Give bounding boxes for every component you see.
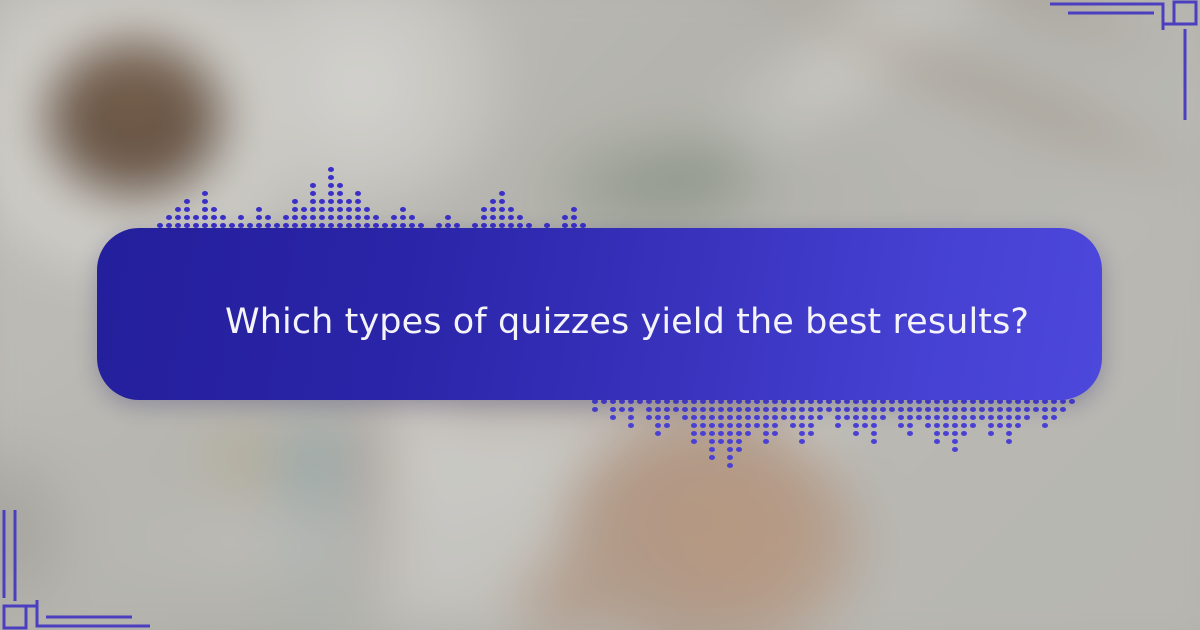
waveform-dot [772, 407, 778, 412]
waveform-dot [1015, 415, 1021, 420]
waveform-dot [346, 215, 352, 220]
waveform-dot [871, 423, 877, 428]
waveform-dot [727, 439, 733, 444]
waveform-dot [736, 431, 742, 436]
waveform-dot [808, 431, 814, 436]
waveform-dot [562, 215, 568, 220]
waveform-dot [988, 415, 994, 420]
waveform-column [835, 396, 841, 428]
waveform-dot [835, 407, 841, 412]
waveform-dot [736, 447, 742, 452]
waveform-dot [961, 423, 967, 428]
waveform-column [772, 396, 778, 436]
waveform-dot [772, 423, 778, 428]
waveform-dot [499, 215, 505, 220]
waveform-dot [835, 415, 841, 420]
waveform-dot [610, 415, 616, 420]
waveform-dot [328, 183, 334, 188]
waveform-dot [799, 407, 805, 412]
waveform-dot [781, 407, 787, 412]
waveform-dot [817, 415, 823, 420]
waveform-dot [1006, 431, 1012, 436]
waveform-dot [292, 207, 298, 212]
waveform-dot [193, 215, 199, 220]
waveform-dot [175, 207, 181, 212]
waveform-dot [934, 439, 940, 444]
waveform-dot [646, 415, 652, 420]
waveform-dot [934, 415, 940, 420]
waveform-dot [808, 423, 814, 428]
waveform-bottom [592, 396, 1078, 480]
waveform-column [808, 396, 814, 436]
waveform-column [664, 396, 670, 428]
waveform-dot [301, 207, 307, 212]
waveform-dot [763, 423, 769, 428]
waveform-dot [961, 431, 967, 436]
waveform-dot [610, 407, 616, 412]
waveform-dot [328, 175, 334, 180]
waveform-dot [292, 199, 298, 204]
waveform-dot [718, 407, 724, 412]
waveform-dot [997, 415, 1003, 420]
waveform-dot [772, 415, 778, 420]
waveform-dot [997, 407, 1003, 412]
waveform-dot [175, 215, 181, 220]
waveform-column [328, 164, 334, 236]
waveform-dot [499, 191, 505, 196]
waveform-dot [1006, 423, 1012, 428]
waveform-dot [1042, 407, 1048, 412]
waveform-dot [727, 455, 733, 460]
waveform-dot [790, 423, 796, 428]
waveform-dot [880, 407, 886, 412]
waveform-dot [727, 407, 733, 412]
waveform-dot [328, 207, 334, 212]
waveform-dot [952, 415, 958, 420]
waveform-column [970, 396, 976, 428]
waveform-dot [238, 215, 244, 220]
waveform-dot [718, 415, 724, 420]
waveform-dot [763, 431, 769, 436]
waveform-dot [202, 215, 208, 220]
waveform-column [763, 396, 769, 444]
waveform-dot [907, 423, 913, 428]
waveform-dot [166, 215, 172, 220]
waveform-dot [265, 215, 271, 220]
waveform-dot [664, 423, 670, 428]
waveform-dot [763, 407, 769, 412]
waveform-dot [373, 215, 379, 220]
waveform-dot [700, 423, 706, 428]
waveform-dot [754, 407, 760, 412]
waveform-dot [709, 415, 715, 420]
waveform-dot [655, 415, 661, 420]
waveform-dot [727, 415, 733, 420]
waveform-column [700, 396, 706, 436]
waveform-column [745, 396, 751, 436]
waveform-dot [745, 415, 751, 420]
waveform-dot [328, 191, 334, 196]
waveform-dot [898, 415, 904, 420]
waveform-dot [799, 423, 805, 428]
waveform-column [898, 396, 904, 428]
waveform-dot [835, 423, 841, 428]
waveform-dot [1024, 415, 1030, 420]
waveform-dot [328, 199, 334, 204]
waveform-dot [736, 439, 742, 444]
waveform-dot [1015, 423, 1021, 428]
waveform-dot [871, 431, 877, 436]
waveform-dot [445, 215, 451, 220]
waveform-column [1015, 396, 1021, 428]
waveform-dot [256, 207, 262, 212]
waveform-column [988, 396, 994, 436]
waveform-top [148, 150, 598, 236]
waveform-dot [364, 215, 370, 220]
waveform-dot [691, 407, 697, 412]
waveform-dot [499, 207, 505, 212]
waveform-dot [907, 407, 913, 412]
waveform-dot [571, 207, 577, 212]
waveform-dot [709, 455, 715, 460]
waveform-dot [727, 423, 733, 428]
waveform-column [790, 396, 796, 428]
waveform-dot [592, 407, 598, 412]
waveform-dot [202, 199, 208, 204]
waveform-column [709, 396, 715, 460]
waveform-dot [934, 431, 940, 436]
waveform-dot [1069, 399, 1075, 404]
waveform-dot [754, 423, 760, 428]
waveform-column [1042, 396, 1048, 428]
waveform-dot [916, 407, 922, 412]
waveform-dot [709, 447, 715, 452]
waveform-dot [988, 431, 994, 436]
waveform-dot [826, 407, 832, 412]
waveform-dot [1015, 407, 1021, 412]
waveform-dot [337, 191, 343, 196]
waveform-dot [700, 415, 706, 420]
waveform-dot [853, 415, 859, 420]
waveform-dot [745, 407, 751, 412]
waveform-dot [1033, 407, 1039, 412]
waveform-dot [673, 407, 679, 412]
waveform-dot [772, 431, 778, 436]
waveform-dot [655, 431, 661, 436]
waveform-dot [853, 423, 859, 428]
waveform-dot [754, 415, 760, 420]
waveform-dot [310, 191, 316, 196]
waveform-dot [925, 415, 931, 420]
waveform-dot [655, 423, 661, 428]
waveform-dot [490, 207, 496, 212]
waveform-dot [709, 431, 715, 436]
waveform-dot [799, 439, 805, 444]
waveform-column [727, 396, 733, 468]
waveform-dot [283, 215, 289, 220]
waveform-dot [481, 207, 487, 212]
waveform-dot [997, 423, 1003, 428]
waveform-dot [862, 415, 868, 420]
waveform-dot [898, 423, 904, 428]
waveform-dot [211, 215, 217, 220]
waveform-dot [691, 431, 697, 436]
waveform-dot [988, 423, 994, 428]
waveform-column [853, 396, 859, 436]
waveform-dot [961, 415, 967, 420]
waveform-dot [409, 215, 415, 220]
waveform-dot [664, 407, 670, 412]
waveform-dot [970, 407, 976, 412]
waveform-dot [490, 199, 496, 204]
waveform-dot [328, 215, 334, 220]
waveform-dot [337, 199, 343, 204]
waveform-column [943, 396, 949, 436]
corner-decoration-top-right [1050, 0, 1200, 120]
waveform-dot [907, 415, 913, 420]
waveform-dot [952, 431, 958, 436]
waveform-dot [337, 215, 343, 220]
waveform-column [799, 396, 805, 444]
waveform-dot [400, 207, 406, 212]
waveform-column [925, 396, 931, 428]
waveform-dot [346, 207, 352, 212]
waveform-dot [1042, 415, 1048, 420]
waveform-dot [319, 207, 325, 212]
waveform-dot [952, 423, 958, 428]
waveform-dot [256, 215, 262, 220]
waveform-column [718, 396, 724, 444]
waveform-dot [961, 407, 967, 412]
waveform-dot [355, 199, 361, 204]
waveform-dot [862, 407, 868, 412]
waveform-column [871, 396, 877, 444]
waveform-dot [727, 463, 733, 468]
waveform-dot [202, 191, 208, 196]
waveform-column [691, 396, 697, 444]
waveform-dot [871, 439, 877, 444]
waveform-dot [700, 407, 706, 412]
waveform-dot [1006, 415, 1012, 420]
waveform-dot [979, 415, 985, 420]
waveform-dot [709, 439, 715, 444]
waveform-dot [682, 407, 688, 412]
circuit-corner-icon [1050, 0, 1200, 120]
waveform-dot [700, 431, 706, 436]
waveform-dot [691, 439, 697, 444]
waveform-dot [799, 431, 805, 436]
waveform-dot [970, 415, 976, 420]
waveform-dot [844, 415, 850, 420]
waveform-dot [889, 407, 895, 412]
corner-decoration-bottom-left [0, 510, 150, 630]
waveform-dot [1060, 407, 1066, 412]
waveform-dot [925, 423, 931, 428]
waveform-dot [871, 415, 877, 420]
waveform-dot [355, 191, 361, 196]
waveform-dot [682, 415, 688, 420]
waveform-column [862, 396, 868, 428]
waveform-column [628, 396, 634, 428]
waveform-dot [1006, 407, 1012, 412]
waveform-column [961, 396, 967, 436]
waveform-dot [799, 415, 805, 420]
waveform-dot [718, 423, 724, 428]
waveform-dot [184, 215, 190, 220]
waveform-dot [763, 439, 769, 444]
waveform-column [934, 396, 940, 444]
waveform-dot [736, 423, 742, 428]
waveform-dot [790, 415, 796, 420]
waveform-dot [898, 407, 904, 412]
waveform-column [1006, 396, 1012, 444]
waveform-dot [301, 215, 307, 220]
waveform-dot [862, 423, 868, 428]
waveform-dot [943, 431, 949, 436]
waveform-dot [628, 423, 634, 428]
waveform-dot [346, 199, 352, 204]
waveform-dot [400, 215, 406, 220]
waveform-dot [736, 415, 742, 420]
waveform-dot [907, 431, 913, 436]
waveform-dot [202, 207, 208, 212]
waveform-dot [355, 215, 361, 220]
waveform-dot [979, 407, 985, 412]
waveform-dot [1051, 415, 1057, 420]
waveform-dot [337, 207, 343, 212]
waveform-dot [310, 183, 316, 188]
waveform-dot [808, 407, 814, 412]
waveform-dot [718, 439, 724, 444]
waveform-dot [364, 207, 370, 212]
waveform-dot [508, 207, 514, 212]
waveform-dot [292, 215, 298, 220]
waveform-column [952, 396, 958, 452]
waveform-dot [628, 407, 634, 412]
waveform-dot [745, 423, 751, 428]
waveform-dot [310, 215, 316, 220]
waveform-dot [952, 407, 958, 412]
waveform-dot [844, 407, 850, 412]
waveform-dot [808, 415, 814, 420]
waveform-dot [970, 423, 976, 428]
waveform-dot [952, 439, 958, 444]
waveform-dot [988, 407, 994, 412]
waveform-dot [934, 407, 940, 412]
waveform-dot [853, 407, 859, 412]
waveform-dot [1024, 407, 1030, 412]
waveform-dot [628, 415, 634, 420]
waveform-dot [916, 415, 922, 420]
page-title: Which types of quizzes yield the best re… [97, 286, 1029, 342]
waveform-dot [925, 407, 931, 412]
waveform-dot [337, 183, 343, 188]
waveform-dot [790, 407, 796, 412]
waveform-dot [211, 207, 217, 212]
waveform-dot [655, 407, 661, 412]
waveform-dot [1006, 439, 1012, 444]
waveform-dot [619, 407, 625, 412]
waveform-dot [763, 415, 769, 420]
waveform-dot [709, 423, 715, 428]
waveform-dot [871, 407, 877, 412]
waveform-dot [310, 199, 316, 204]
waveform-dot [310, 207, 316, 212]
poster-canvas: Which types of quizzes yield the best re… [0, 0, 1200, 630]
waveform-dot [220, 215, 226, 220]
title-card: Which types of quizzes yield the best re… [97, 228, 1102, 400]
waveform-dot [952, 447, 958, 452]
waveform-column [754, 396, 760, 428]
waveform-dot [691, 415, 697, 420]
waveform-dot [934, 423, 940, 428]
waveform-dot [943, 415, 949, 420]
waveform-dot [319, 215, 325, 220]
waveform-dot [943, 423, 949, 428]
waveform-dot [880, 415, 886, 420]
waveform-dot [184, 199, 190, 204]
waveform-dot [481, 215, 487, 220]
waveform-column [907, 396, 913, 436]
waveform-dot [355, 207, 361, 212]
waveform-dot [745, 431, 751, 436]
waveform-dot [328, 167, 334, 172]
waveform-dot [943, 407, 949, 412]
waveform-dot [391, 215, 397, 220]
waveform-dot [718, 431, 724, 436]
waveform-dot [727, 447, 733, 452]
waveform-column [997, 396, 1003, 428]
waveform-dot [490, 215, 496, 220]
waveform-dot [517, 215, 523, 220]
waveform-dot [499, 199, 505, 204]
waveform-dot [646, 407, 652, 412]
waveform-dot [781, 415, 787, 420]
waveform-dot [853, 431, 859, 436]
circuit-corner-icon [0, 510, 150, 630]
waveform-dot [319, 199, 325, 204]
waveform-dot [508, 215, 514, 220]
waveform-dot [1042, 423, 1048, 428]
waveform-dot [664, 415, 670, 420]
waveform-column [655, 396, 661, 436]
waveform-dot [184, 207, 190, 212]
waveform-dot [736, 407, 742, 412]
waveform-dot [691, 423, 697, 428]
waveform-column [736, 396, 742, 452]
waveform-dot [571, 215, 577, 220]
waveform-dot [817, 407, 823, 412]
waveform-dot [709, 407, 715, 412]
waveform-dot [727, 431, 733, 436]
waveform-dot [1051, 407, 1057, 412]
